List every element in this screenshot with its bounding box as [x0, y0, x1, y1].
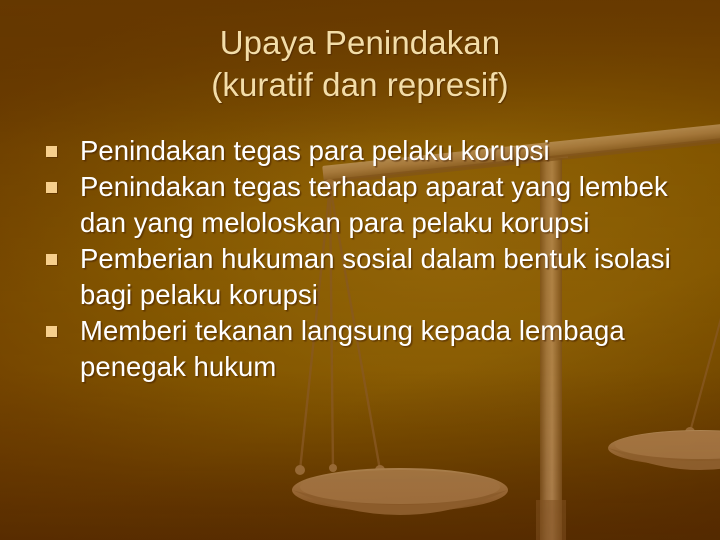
- list-item-text: Penindakan tegas para pelaku korupsi: [80, 135, 550, 166]
- title-line-1: Upaya Penindakan: [0, 22, 720, 64]
- list-item-text: Penindakan tegas terhadap aparat yang le…: [80, 171, 668, 238]
- slide-canvas: Upaya Penindakan (kuratif dan represif) …: [0, 0, 720, 540]
- slide-body-list: Penindakan tegas para pelaku korupsi Pen…: [44, 133, 684, 385]
- title-line-2: (kuratif dan represif): [0, 64, 720, 106]
- square-bullet-icon: [46, 182, 57, 193]
- list-item: Penindakan tegas terhadap aparat yang le…: [44, 169, 684, 241]
- list-item: Penindakan tegas para pelaku korupsi: [44, 133, 684, 169]
- list-item: Pemberian hukuman sosial dalam bentuk is…: [44, 241, 684, 313]
- square-bullet-icon: [46, 254, 57, 265]
- list-item-text: Pemberian hukuman sosial dalam bentuk is…: [80, 243, 671, 310]
- square-bullet-icon: [46, 326, 57, 337]
- square-bullet-icon: [46, 146, 57, 157]
- slide-title: Upaya Penindakan (kuratif dan represif): [0, 22, 720, 106]
- list-item-text: Memberi tekanan langsung kepada lembaga …: [80, 315, 625, 382]
- list-item: Memberi tekanan langsung kepada lembaga …: [44, 313, 684, 385]
